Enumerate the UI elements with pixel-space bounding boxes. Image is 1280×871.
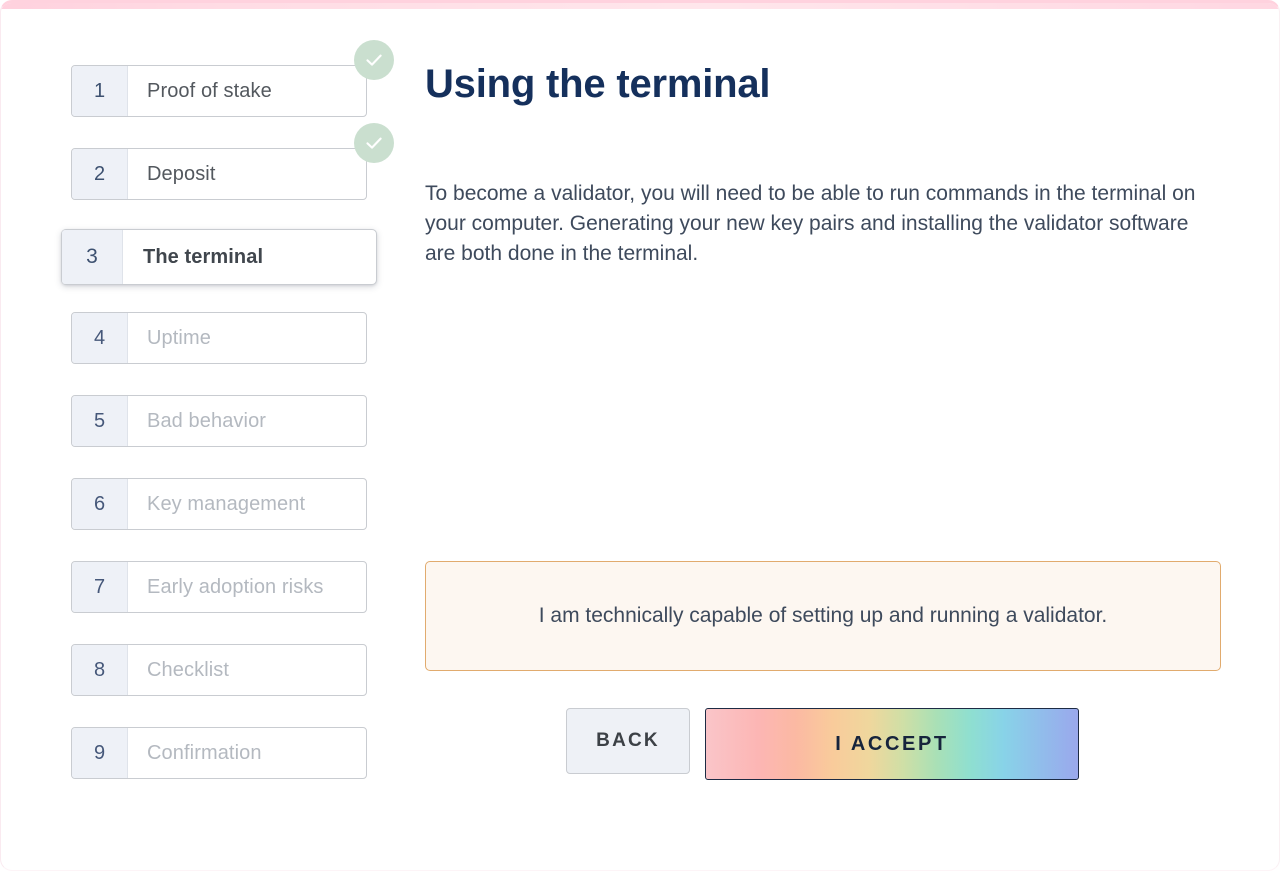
main-content: Using the terminal To become a validator… — [425, 61, 1225, 107]
step-number: 9 — [72, 728, 128, 778]
back-button[interactable]: BACK — [566, 708, 690, 774]
sidebar-step-3-the-terminal[interactable]: 3 The terminal — [61, 229, 377, 285]
sidebar-step-5-bad-behavior[interactable]: 5 Bad behavior — [71, 395, 367, 447]
step-label: Deposit — [128, 149, 366, 199]
step-label: Checklist — [128, 645, 366, 695]
sidebar-step-8-checklist[interactable]: 8 Checklist — [71, 644, 367, 696]
check-icon — [354, 40, 394, 80]
step-navigation-sidebar: 1 Proof of stake 2 Deposit 3 — [71, 65, 367, 779]
step-number: 4 — [72, 313, 128, 363]
sidebar-step-1-proof-of-stake[interactable]: 1 Proof of stake — [71, 65, 367, 117]
step-number: 2 — [72, 149, 128, 199]
step-number: 3 — [62, 230, 123, 284]
step-number: 6 — [72, 479, 128, 529]
sidebar-step-9-confirmation[interactable]: 9 Confirmation — [71, 727, 367, 779]
step-number: 7 — [72, 562, 128, 612]
accept-button[interactable]: I ACCEPT — [705, 708, 1079, 780]
acceptance-notice-box: I am technically capable of setting up a… — [425, 561, 1221, 671]
step-number: 5 — [72, 396, 128, 446]
check-icon — [354, 123, 394, 163]
step-label: Early adoption risks — [128, 562, 366, 612]
step-label: Proof of stake — [128, 66, 366, 116]
sidebar-step-6-key-management[interactable]: 6 Key management — [71, 478, 367, 530]
sidebar-step-4-uptime[interactable]: 4 Uptime — [71, 312, 367, 364]
sidebar-step-7-early-adoption-risks[interactable]: 7 Early adoption risks — [71, 561, 367, 613]
step-label: Confirmation — [128, 728, 366, 778]
acceptance-notice-text: I am technically capable of setting up a… — [513, 604, 1134, 628]
step-number: 8 — [72, 645, 128, 695]
intro-paragraph: To become a validator, you will need to … — [425, 179, 1215, 269]
step-label: The terminal — [123, 230, 376, 284]
step-label: Bad behavior — [128, 396, 366, 446]
step-label: Key management — [128, 479, 366, 529]
sidebar-step-2-deposit[interactable]: 2 Deposit — [71, 148, 367, 200]
action-button-row: BACK I ACCEPT — [566, 708, 1079, 780]
page-layout: 1 Proof of stake 2 Deposit 3 — [1, 3, 1280, 871]
step-number: 1 — [72, 66, 128, 116]
app-window-frame: 1 Proof of stake 2 Deposit 3 — [0, 0, 1280, 871]
step-label: Uptime — [128, 313, 366, 363]
page-title: Using the terminal — [425, 61, 1225, 107]
